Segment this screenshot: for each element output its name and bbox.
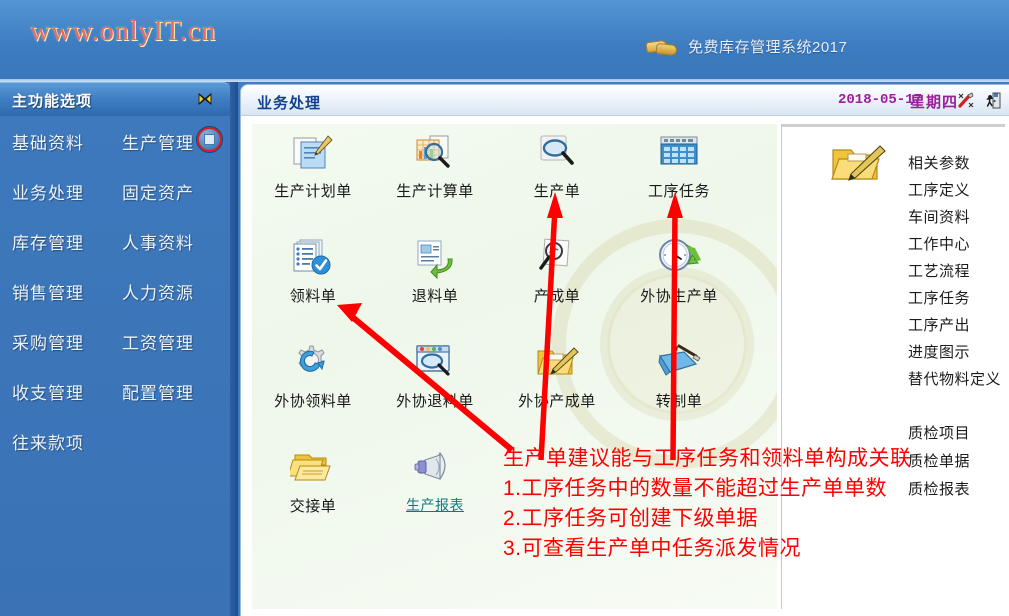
clock-refresh-icon <box>656 237 702 279</box>
sidebar-menu-row: 往来款项 <box>0 416 230 466</box>
module-item-outsourced-requisition[interactable]: 外协领料单 <box>252 334 374 439</box>
sidebar-item-income-expense[interactable]: 收支管理 <box>12 384 84 403</box>
pane-top-divider <box>782 124 1005 127</box>
list-item-process-definition[interactable]: 工序定义 <box>908 177 1001 204</box>
module-item-handover-order[interactable]: 交接单 <box>252 439 374 544</box>
module-label: 生产计划单 <box>274 180 352 201</box>
list-item-process-output[interactable]: 工序产出 <box>908 312 1001 339</box>
module-item-production-calc[interactable]: 生产计算单 <box>374 124 496 229</box>
module-label: 工序任务 <box>648 180 710 201</box>
list-item-related-params[interactable]: 相关参数 <box>908 150 1001 177</box>
main-window: 业务处理 2018-05-17 星期四 <box>240 84 1009 616</box>
folder-pencil-icon <box>830 142 888 188</box>
icon-row: 领料单 <box>252 229 777 334</box>
magnifier-page-icon <box>534 132 580 174</box>
sidebar-menu-row: 销售管理 人力资源 <box>0 266 230 316</box>
module-item-process-task[interactable]: 工序任务 <box>618 124 740 229</box>
sidebar-menu-row: 库存管理 人事资料 <box>0 216 230 266</box>
module-label: 产成单 <box>534 285 581 306</box>
app-root: www.onlyIT.cn 免费库存管理系统2017 主功能选项 <box>0 0 1009 616</box>
sidebar-menu-row: 业务处理 固定资产 <box>0 166 230 216</box>
page-magnifier-icon <box>534 237 580 279</box>
exit-door-icon[interactable] <box>982 90 1002 110</box>
module-item-finished-goods[interactable]: 产成单 <box>496 229 618 334</box>
sidebar-item-personnel-data[interactable]: 人事资料 <box>122 234 194 253</box>
pin-unpinned-icon[interactable] <box>196 91 214 109</box>
list-item-substitute-material[interactable]: 替代物料定义 <box>908 366 1001 393</box>
yellow-folders-icon <box>290 447 336 489</box>
module-icon-pane: 生产计划单 <box>252 124 777 609</box>
module-item-outsourced-finished[interactable]: 外协产成单 <box>496 334 618 439</box>
tools-screwdriver-icon[interactable] <box>956 90 976 110</box>
module-item-material-return[interactable]: 退料单 <box>374 229 496 334</box>
icon-row: 生产计划单 <box>252 124 777 229</box>
sidebar-title: 主功能选项 <box>12 90 92 111</box>
module-icon-grid: 生产计划单 <box>252 124 777 544</box>
settings-list-group-1: 相关参数 工序定义 车间资料 工作中心 工艺流程 工序任务 工序产出 进度图示 … <box>908 150 1001 393</box>
module-label-link[interactable]: 生产报表 <box>406 495 464 515</box>
module-label: 外协退料单 <box>396 390 474 411</box>
sidebar-menu-row: 基础资料 生产管理 <box>0 116 230 166</box>
list-item-qc-document[interactable]: 质检单据 <box>908 448 970 476</box>
icon-row: 外协领料单 <box>252 334 777 439</box>
brand-title: 免费库存管理系统2017 <box>688 36 847 57</box>
blue-page-pen-icon <box>656 342 702 384</box>
checklist-badge-icon <box>290 237 336 279</box>
sidebar-item-human-resources[interactable]: 人力资源 <box>122 284 194 303</box>
module-item-outsourced-production[interactable]: 外协生产单 <box>618 229 740 334</box>
sidebar-item-purchase-management[interactable]: 采购管理 <box>12 334 84 353</box>
document-return-arrow-icon <box>412 237 458 279</box>
window-content: 生产计划单 <box>241 116 1009 616</box>
sidebar-item-sales-management[interactable]: 销售管理 <box>12 284 84 303</box>
list-item-qc-report[interactable]: 质检报表 <box>908 476 970 504</box>
page-title: 业务处理 <box>257 92 321 113</box>
window-magnifier-icon <box>412 342 458 384</box>
window-titlebar: 业务处理 2018-05-17 星期四 <box>241 85 1009 116</box>
module-item-transfer-order[interactable]: 转制单 <box>618 334 740 439</box>
module-item-production-order[interactable]: 生产单 <box>496 124 618 229</box>
list-item-qc-project[interactable]: 质检项目 <box>908 420 970 448</box>
folder-pencil-icon <box>534 342 580 384</box>
module-label: 外协领料单 <box>274 390 352 411</box>
sidebar-edge <box>230 82 238 616</box>
gear-refresh-icon <box>290 342 336 384</box>
document-pencil-icon <box>290 132 336 174</box>
module-label: 退料单 <box>412 285 459 306</box>
list-item-progress-chart[interactable]: 进度图示 <box>908 339 1001 366</box>
active-module-badge-icon <box>197 127 222 152</box>
module-label: 外协生产单 <box>640 285 718 306</box>
sidebar-menu: 基础资料 生产管理 业务处理 固定资产 库存管理 人事资料 销售管理 人力资源 … <box>0 116 230 466</box>
list-item-work-center[interactable]: 工作中心 <box>908 231 1001 258</box>
module-label: 生产计算单 <box>396 180 474 201</box>
sidebar-menu-row: 收支管理 配置管理 <box>0 366 230 416</box>
sidebar-item-basic-data[interactable]: 基础资料 <box>12 134 84 153</box>
list-item-process-flow[interactable]: 工艺流程 <box>908 258 1001 285</box>
list-item-process-task[interactable]: 工序任务 <box>908 285 1001 312</box>
module-item-outsourced-return[interactable]: 外协退料单 <box>374 334 496 439</box>
module-label: 转制单 <box>656 390 703 411</box>
module-item-material-requisition[interactable]: 领料单 <box>252 229 374 334</box>
list-item-workshop-data[interactable]: 车间资料 <box>908 204 1001 231</box>
current-weekday: 星期四 <box>910 91 958 112</box>
megaphone-icon <box>412 447 458 489</box>
sidebar-item-receivables-payables[interactable]: 往来款项 <box>12 434 84 453</box>
brand-block: 免费库存管理系统2017 <box>646 36 847 57</box>
module-label: 外协产成单 <box>518 390 596 411</box>
module-item-production-plan[interactable]: 生产计划单 <box>252 124 374 229</box>
spreadsheet-magnifier-icon <box>412 132 458 174</box>
sidebar-header: 主功能选项 <box>0 82 230 116</box>
module-item-production-report[interactable]: 生产报表 <box>374 439 496 544</box>
sidebar: 主功能选项 基础资料 生产管理 业务处理 <box>0 82 238 616</box>
sidebar-item-salary-management[interactable]: 工资管理 <box>122 334 194 353</box>
site-url-text: www.onlyIT.cn <box>30 16 216 48</box>
window-toolbar <box>956 90 1002 110</box>
icon-row: 交接单 <box>252 439 777 544</box>
sidebar-item-business-process[interactable]: 业务处理 <box>12 184 84 203</box>
sidebar-menu-row: 采购管理 工资管理 <box>0 316 230 366</box>
sidebar-item-config-management[interactable]: 配置管理 <box>122 384 194 403</box>
related-settings-pane: 相关参数 工序定义 车间资料 工作中心 工艺流程 工序任务 工序产出 进度图示 … <box>781 124 1005 609</box>
module-label: 交接单 <box>290 495 337 516</box>
settings-list-group-2: 质检项目 质检单据 质检报表 <box>908 420 970 504</box>
sidebar-item-production-management[interactable]: 生产管理 <box>122 134 194 153</box>
top-banner: www.onlyIT.cn 免费库存管理系统2017 <box>0 0 1009 82</box>
calculator-icon <box>656 132 702 174</box>
handshake-icon <box>646 38 676 56</box>
sidebar-item-fixed-assets[interactable]: 固定资产 <box>122 184 194 203</box>
sidebar-item-inventory-management[interactable]: 库存管理 <box>12 234 84 253</box>
module-label: 领料单 <box>290 285 337 306</box>
module-label: 生产单 <box>534 180 581 201</box>
